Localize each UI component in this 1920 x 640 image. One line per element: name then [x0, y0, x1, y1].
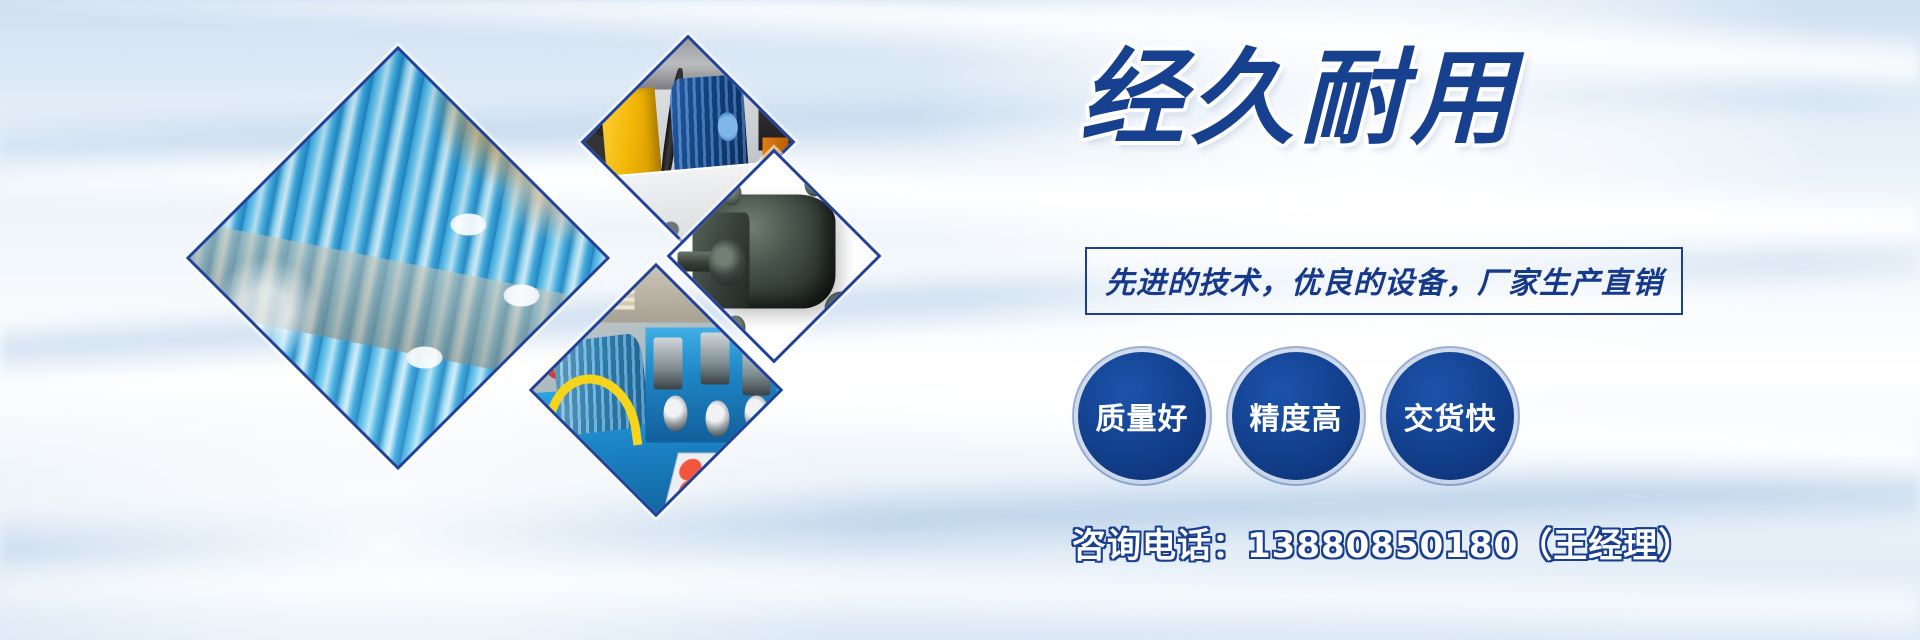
feature-badge-label: 质量好: [1096, 394, 1189, 438]
feature-badge-label: 交货快: [1404, 394, 1497, 438]
feature-badge-delivery[interactable]: 交货快: [1386, 352, 1514, 480]
contact-phone-text[interactable]: 咨询电话：13880850180（王经理）: [1072, 518, 1693, 567]
subtitle-text: 先进的技术，优良的设备，厂家生产直销: [1105, 266, 1663, 301]
subtitle-box: 先进的技术，优良的设备，厂家生产直销: [1085, 247, 1683, 315]
page-title: 经久耐用: [1080, 46, 1520, 150]
feature-badge-precision[interactable]: 精度高: [1232, 352, 1360, 480]
feature-badge-quality[interactable]: 质量好: [1078, 352, 1206, 480]
feature-badge-label: 精度高: [1250, 394, 1343, 438]
feature-badge-group: 质量好 精度高 交货快: [1078, 352, 1514, 480]
promo-banner: 经久耐用 先进的技术，优良的设备，厂家生产直销 质量好 精度高 交货快 咨询电话…: [0, 0, 1920, 640]
